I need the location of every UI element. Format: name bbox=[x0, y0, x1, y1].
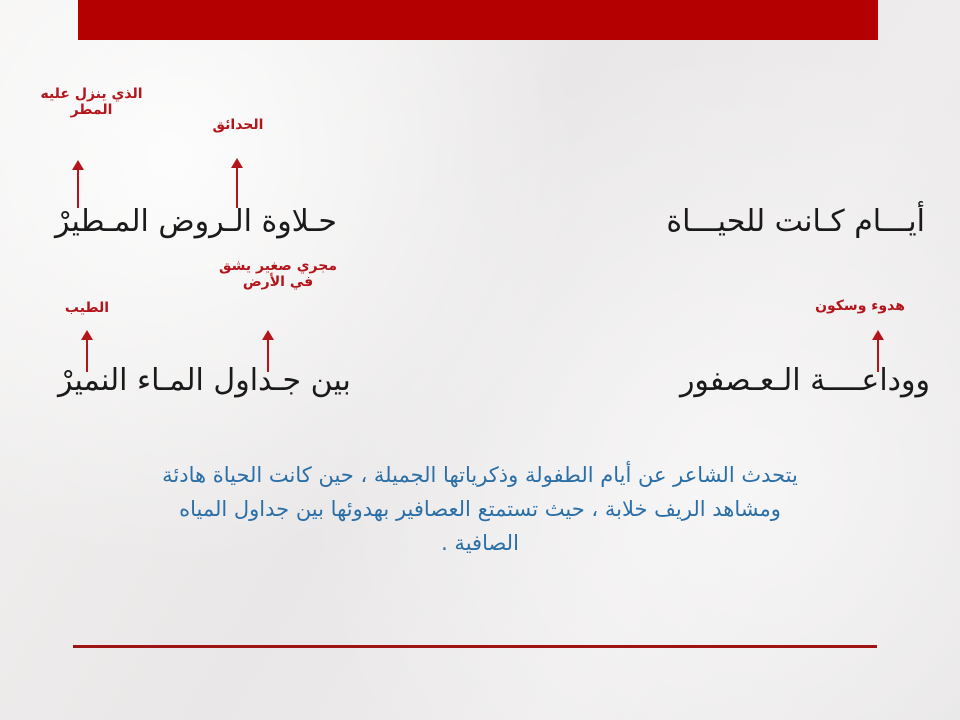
annotation-stream-label: مجري صغير يشق في الأرض bbox=[198, 258, 358, 290]
verse-1-right-hemistich: أيـــام كـانت للحيـــاة bbox=[666, 205, 925, 238]
explanation-line-1: يتحدث الشاعر عن أيام الطفولة وذكرياتها ا… bbox=[70, 458, 890, 492]
arrow-stem bbox=[236, 165, 238, 208]
explanation-line-3: الصافية . bbox=[70, 526, 890, 560]
annotation-gardens-arrow bbox=[230, 158, 244, 208]
explanation-paragraph: يتحدث الشاعر عن أيام الطفولة وذكرياتها ا… bbox=[70, 458, 890, 560]
arrow-stem bbox=[77, 167, 79, 208]
explanation-line-2: ومشاهد الريف خلابة ، حيث تستمتع العصافير… bbox=[70, 492, 890, 526]
verse-2-left-hemistich: بين جـداول المـاء النميرْ bbox=[58, 364, 351, 397]
annotation-good-label: الطيب bbox=[42, 300, 132, 316]
annotation-gardens-label: الحدائق bbox=[183, 117, 293, 133]
verse-1-left-hemistich: حـلاوة الـروض المـطيرْ bbox=[55, 205, 337, 238]
verse-2-right-hemistich: ووداعــــة الـعـصفور bbox=[680, 364, 930, 397]
annotation-calm-label: هدوء وسكون bbox=[790, 298, 930, 314]
header-bar bbox=[78, 0, 878, 40]
slide-canvas: الذي ينزل عليه المطر الحدائق أيـــام كـا… bbox=[0, 0, 960, 720]
annotation-rain-arrow bbox=[71, 160, 85, 208]
annotation-rain-label: الذي ينزل عليه المطر bbox=[14, 86, 169, 118]
bottom-divider bbox=[73, 645, 877, 648]
